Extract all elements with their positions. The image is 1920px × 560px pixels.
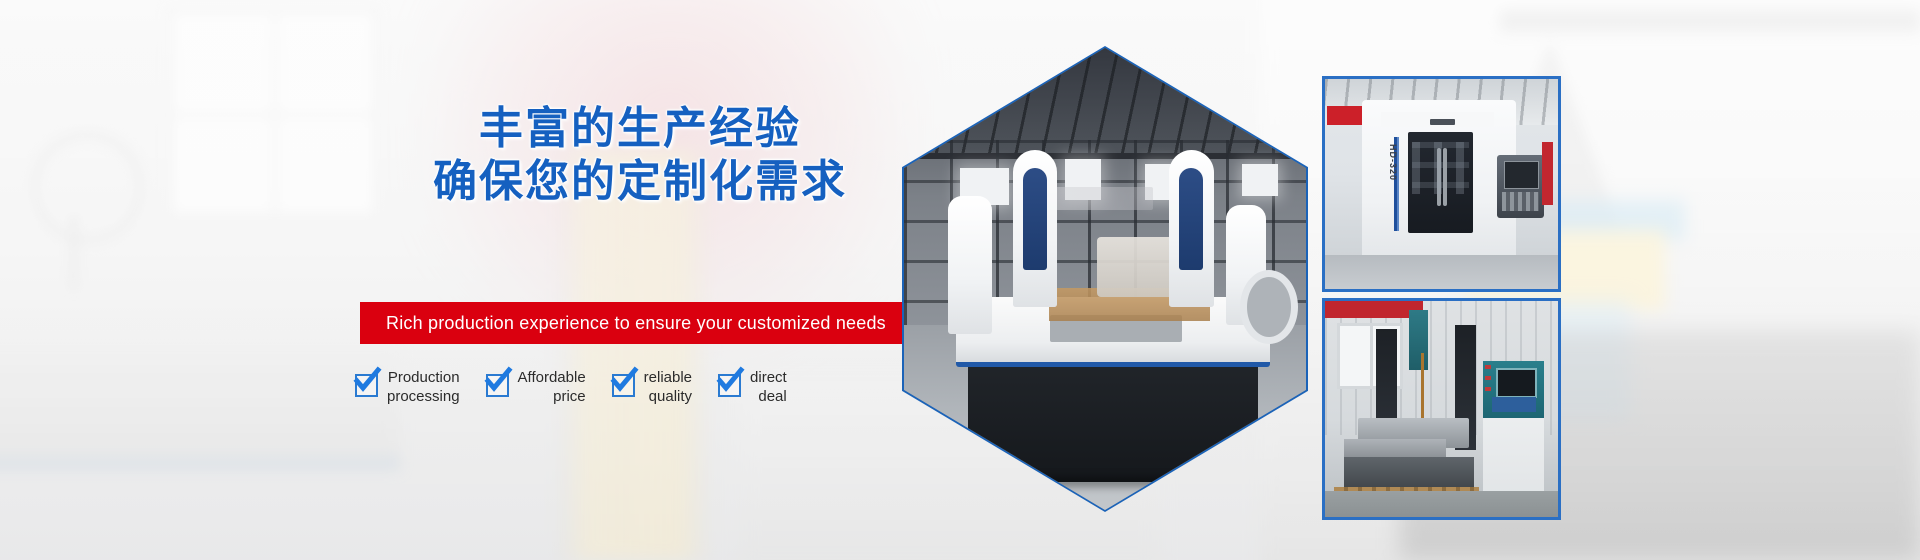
thumb1-brand-logo: [1430, 119, 1455, 125]
photo-wall-banner: [1049, 187, 1154, 210]
hexagon-photo-frame: [902, 46, 1308, 512]
photo-wrapped-pallet: [1097, 237, 1177, 297]
promo-banner: 丰富的生产经验 确保您的定制化需求 Rich production experi…: [0, 0, 1920, 560]
feature-label: reliable quality: [644, 368, 692, 406]
thumb1-machine-door: [1408, 132, 1473, 233]
feature-item[interactable]: Production processing: [355, 368, 460, 406]
thumb1-machine-body: HD-320: [1362, 100, 1516, 268]
photo-machine-spool: [1240, 270, 1298, 344]
subtitle-red-bar: Rich production experience to ensure you…: [360, 302, 905, 344]
thumb1-red-accent: [1542, 142, 1554, 205]
subtitle-text: Rich production experience to ensure you…: [360, 313, 886, 334]
thumb2-cabinet-head: [1483, 361, 1544, 417]
thumb2-machine-head: [1409, 310, 1428, 370]
feature-label: Affordable price: [518, 368, 586, 406]
thumb2-cabinet-screen: [1496, 368, 1538, 398]
feature-item[interactable]: Affordable price: [486, 368, 586, 406]
thumb2-floor: [1325, 491, 1558, 517]
feature-label: Production processing: [387, 368, 460, 406]
photo-machine-blue-panel: [1179, 168, 1203, 270]
photo-machine-blue-panel: [1023, 168, 1047, 270]
thumb1-control-screen: [1504, 161, 1540, 189]
thumbnail-edm-machine[interactable]: [1322, 298, 1561, 520]
checkbox-checked-icon[interactable]: [486, 374, 509, 397]
feature-list: Production processing Affordable price r…: [355, 368, 787, 406]
thumb1-control-keypad: [1502, 192, 1539, 211]
thumb2-machine-bed: [1344, 457, 1474, 487]
thumb1-model-label: HD-320: [1388, 144, 1398, 181]
photo-machine-base: [968, 353, 1257, 482]
thumb1-floor: [1325, 255, 1558, 289]
thumb1-door-glass: [1412, 142, 1469, 194]
thumb2-control-cabinet: [1483, 361, 1544, 495]
checkbox-checked-icon[interactable]: [718, 374, 741, 397]
checkbox-checked-icon[interactable]: [612, 374, 635, 397]
photo-machine-column: [948, 196, 992, 335]
checkbox-checked-icon[interactable]: [355, 374, 378, 397]
thumbnail-machining-center[interactable]: HD-320: [1322, 76, 1561, 292]
thumb1-control-panel: [1497, 155, 1544, 218]
thumb1-red-banner: [1327, 106, 1364, 125]
headline-line-1: 丰富的生产经验: [360, 104, 920, 153]
thumb2-cabinet-buttons: [1485, 365, 1491, 393]
banner-headline: 丰富的生产经验 确保您的定制化需求: [360, 104, 920, 207]
feature-label: direct deal: [750, 368, 787, 406]
photo-window: [1242, 164, 1278, 196]
feature-item[interactable]: direct deal: [718, 368, 787, 406]
hexagon-machine-photo: [904, 48, 1306, 510]
feature-item[interactable]: reliable quality: [612, 368, 692, 406]
thumb2-cabinet-panel: [1492, 397, 1536, 412]
headline-line-2: 确保您的定制化需求: [360, 157, 920, 206]
